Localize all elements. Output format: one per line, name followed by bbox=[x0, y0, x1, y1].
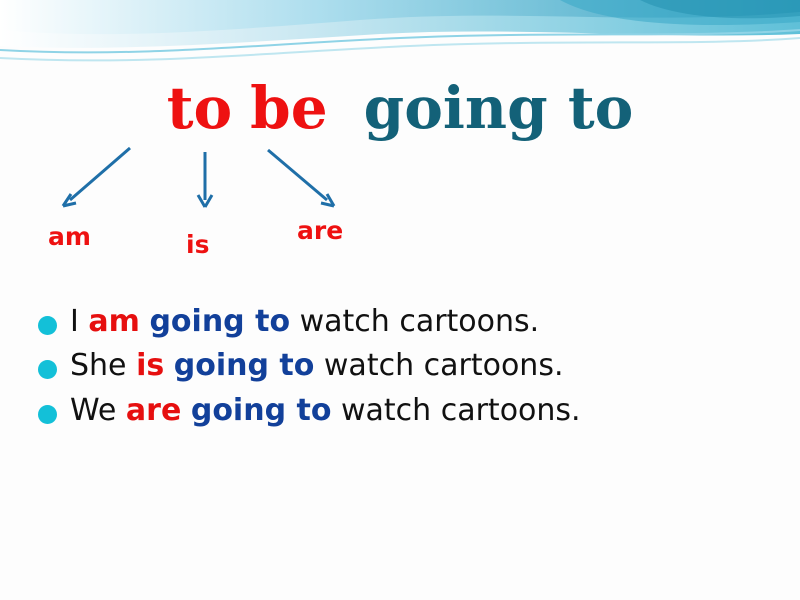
title-going-to: going to bbox=[364, 74, 634, 142]
form-word-am: am bbox=[48, 224, 100, 250]
arrow-be-are bbox=[268, 150, 327, 200]
sentence-going-to: going to bbox=[149, 304, 290, 339]
title-be: be bbox=[250, 74, 327, 142]
sentence-rest: watch cartoons. bbox=[314, 348, 563, 383]
form-word-is: is bbox=[186, 232, 232, 258]
sentence-rest: watch cartoons. bbox=[331, 393, 580, 428]
sentence-be-form: are bbox=[126, 393, 181, 428]
sentence-going-to: going to bbox=[191, 393, 332, 428]
title-to: to bbox=[167, 74, 232, 142]
form-word-are: are bbox=[297, 218, 335, 244]
list-item: We are going to watch cartoons. bbox=[34, 392, 774, 430]
slide-canvas: tobegoing to am is are I am going to wat… bbox=[0, 0, 800, 600]
sentence-subject: She bbox=[70, 348, 136, 383]
sentence-subject: We bbox=[70, 393, 126, 428]
bullet-dot-icon bbox=[38, 360, 57, 379]
arrow-to-am bbox=[70, 148, 130, 200]
bullet-dot-icon bbox=[38, 316, 57, 335]
sentence-be-form: is bbox=[136, 348, 164, 383]
slide-title: tobegoing to bbox=[0, 78, 800, 139]
sentence-list: I am going to watch cartoons. She is goi… bbox=[34, 303, 774, 436]
sentence-rest: watch cartoons. bbox=[290, 304, 539, 339]
sentence-subject: I bbox=[70, 304, 88, 339]
bullet-dot-icon bbox=[38, 405, 57, 424]
list-item: She is going to watch cartoons. bbox=[34, 347, 774, 385]
sentence-be-form: am bbox=[88, 304, 140, 339]
list-item: I am going to watch cartoons. bbox=[34, 303, 774, 341]
sentence-going-to: going to bbox=[174, 348, 315, 383]
